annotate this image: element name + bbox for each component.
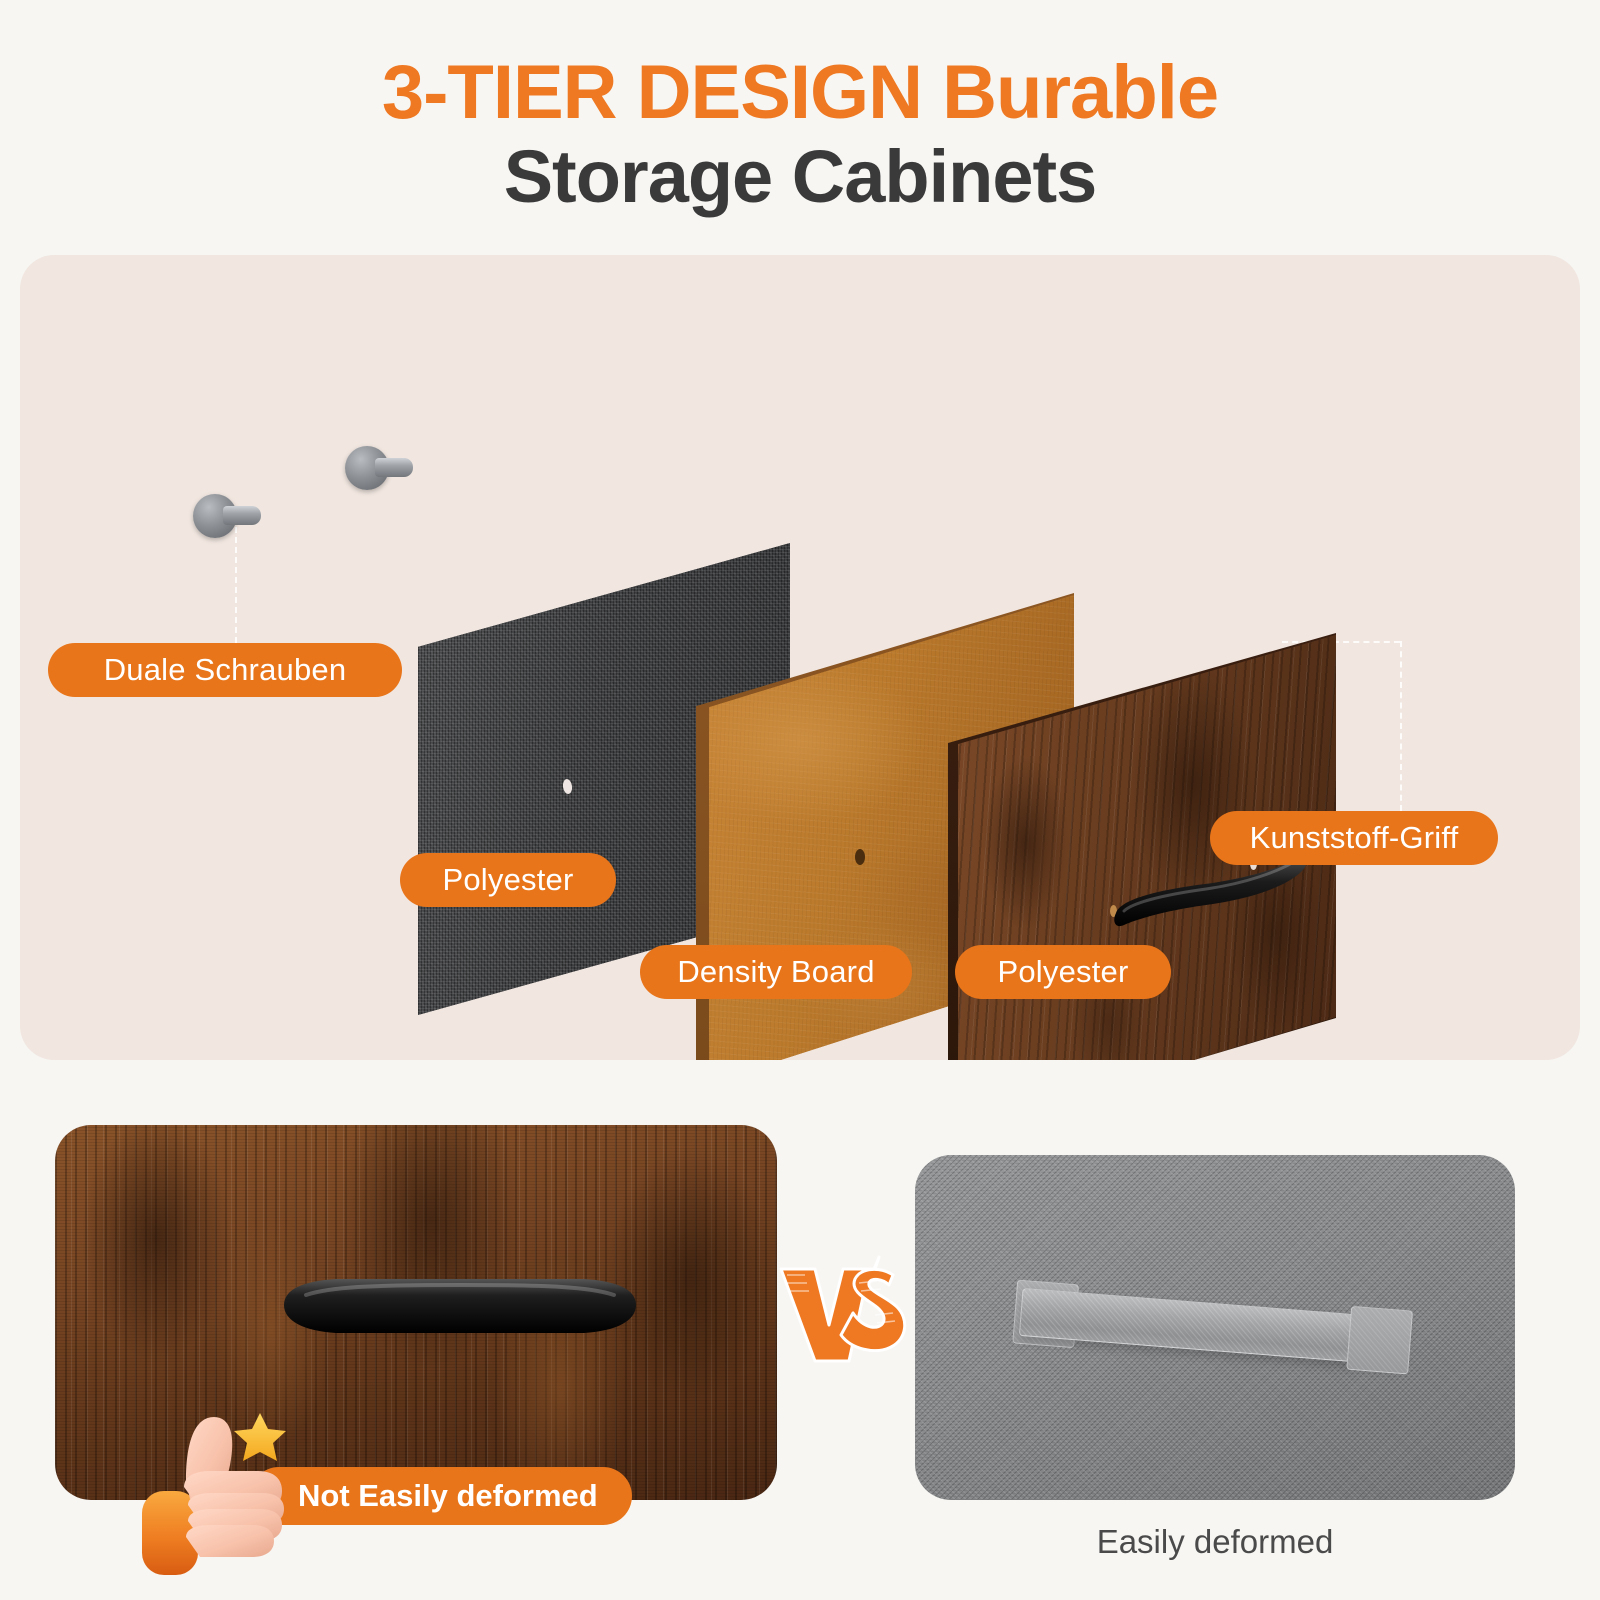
screw-shaft <box>375 458 413 477</box>
callout-kunststoff-griff[interactable]: Kunststoff-Griff <box>1210 811 1498 865</box>
callout-duale-schrauben[interactable]: Duale Schrauben <box>48 643 402 697</box>
fabric-strap-handle <box>1018 1278 1407 1380</box>
page-title-secondary: Storage Cabinets <box>0 134 1600 219</box>
label-easily-deformed: Easily deformed <box>915 1523 1515 1561</box>
comparison-section: Not Easily deformed Easily deformed <box>0 1095 1600 1600</box>
callout-polyester-back[interactable]: Polyester <box>400 853 616 907</box>
thumbs-up-icon <box>140 1395 300 1585</box>
star-icon <box>234 1413 286 1461</box>
callout-density-board[interactable]: Density Board <box>640 945 912 999</box>
page-header: 3-TIER DESIGN Burable Storage Cabinets <box>0 0 1600 219</box>
exploded-view-card: Duale Schrauben Polyester Density Board … <box>20 255 1580 1060</box>
comparison-fabric-panel <box>915 1155 1515 1500</box>
callout-polyester-front[interactable]: Polyester <box>955 945 1171 999</box>
screw-shaft <box>223 506 261 525</box>
panel-hole <box>855 849 865 865</box>
vs-badge-icon <box>775 1253 910 1378</box>
page-title-primary: 3-TIER DESIGN Burable <box>0 52 1600 134</box>
panel-hole <box>562 778 573 794</box>
strap-end <box>1346 1306 1413 1375</box>
label-not-easily-deformed: Not Easily deformed <box>250 1467 632 1525</box>
leader-line-handle-vertical <box>1400 641 1402 811</box>
plastic-handle-icon <box>280 1275 640 1337</box>
leader-line-screws <box>235 527 237 643</box>
